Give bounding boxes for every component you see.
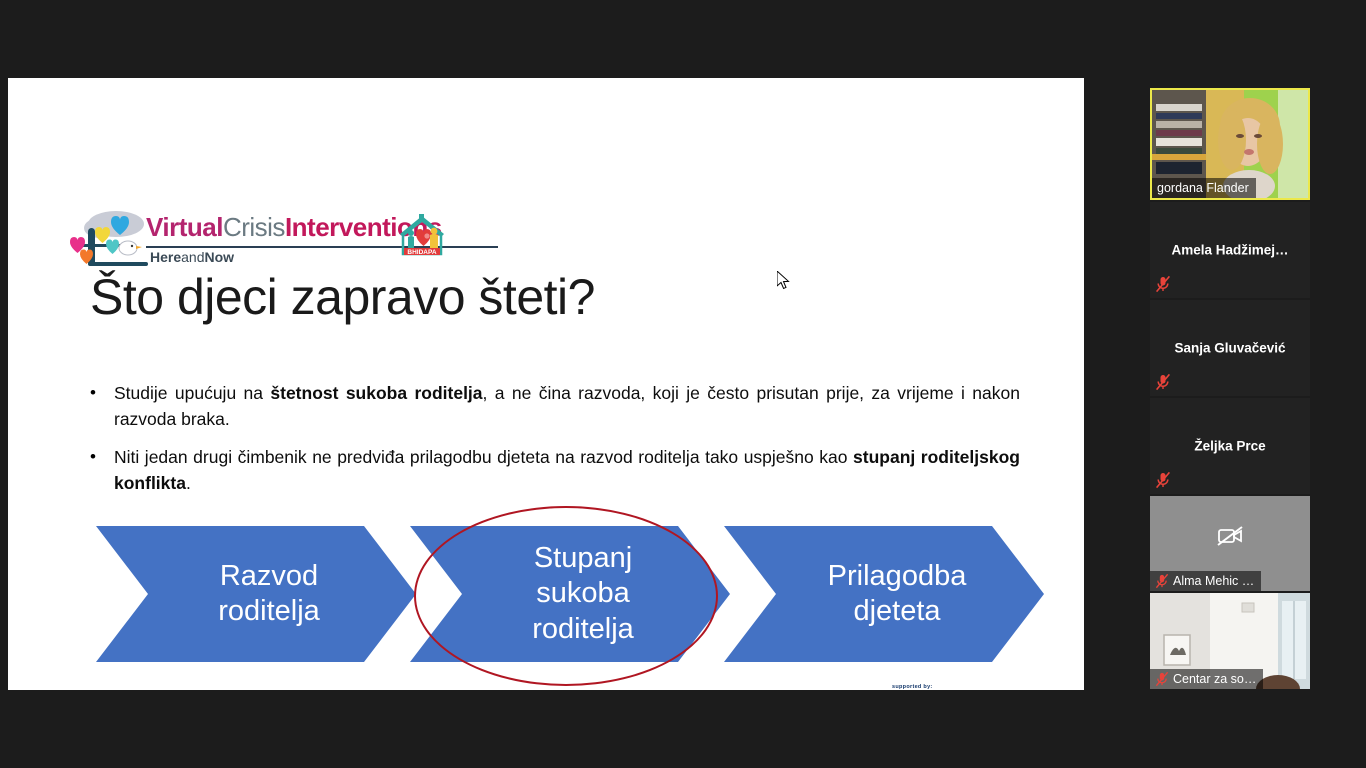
- logo-tagline-and: and: [181, 249, 204, 265]
- logo-tagline: HereandNow: [150, 249, 234, 265]
- participant-tile[interactable]: Centar za so…: [1150, 593, 1310, 689]
- participant-name: Amela Hadžimej…: [1150, 243, 1310, 258]
- bullet-text: Studije upućuju na štetnost sukoba rodit…: [114, 380, 1020, 432]
- mic-off-icon: [1155, 573, 1169, 589]
- participant-tile[interactable]: gordana Flander: [1150, 88, 1310, 200]
- bullet-segment: Niti jedan drugi čimbenik ne predviđa pr…: [114, 447, 853, 467]
- bullet-marker: •: [90, 380, 114, 432]
- participant-tile[interactable]: Amela Hadžimej…: [1150, 202, 1310, 298]
- participant-name-bar: gordana Flander: [1152, 178, 1256, 198]
- participant-tile[interactable]: Željka Prce: [1150, 398, 1310, 494]
- participant-name-bar: Centar za so…: [1150, 669, 1263, 689]
- tree-hearts-logo-icon: [64, 206, 156, 272]
- mic-off-indicator: [1155, 671, 1169, 687]
- participant-tile[interactable]: Alma Mehic …: [1150, 496, 1310, 591]
- logo-tagline-now: Now: [205, 249, 235, 265]
- participant-name: Centar za so…: [1173, 672, 1256, 686]
- participant-strip[interactable]: gordana FlanderAmela Hadžimej… Sanja Glu…: [1150, 88, 1310, 672]
- bullet-segment: Studije upućuju na: [114, 383, 270, 403]
- camera-off-icon: [1217, 525, 1243, 547]
- mic-off-indicator: [1155, 275, 1171, 293]
- flow-step-3: Prilagodbadjeteta: [724, 526, 1044, 662]
- flow-step-1-label: Razvodroditelja: [192, 559, 320, 630]
- logo-word-crisis: Crisis: [223, 212, 285, 242]
- svg-text:BHIDAPA: BHIDAPA: [407, 249, 436, 256]
- participant-tile[interactable]: Sanja Gluvačević: [1150, 300, 1310, 396]
- mic-off-icon: [1155, 275, 1171, 293]
- shared-slide: VirtualCrisisInterventions HereandNow BH…: [8, 78, 1084, 690]
- bullet-item: •Niti jedan drugi čimbenik ne predviđa p…: [90, 444, 1020, 496]
- mic-off-indicator: [1155, 373, 1171, 391]
- bullet-segment: .: [186, 473, 191, 493]
- slide-footer: supported by: unicef for every child USA…: [892, 684, 1084, 690]
- mic-off-icon: [1155, 671, 1169, 687]
- mic-off-indicator: [1155, 573, 1169, 589]
- participant-name: gordana Flander: [1157, 181, 1249, 195]
- flow-step-2-label: Stupanjsukobaroditelja: [506, 541, 634, 647]
- participant-name: Alma Mehic …: [1173, 574, 1254, 588]
- participant-name-bar: Alma Mehic …: [1150, 571, 1261, 591]
- page-title: Što djeci zapravo šteti?: [90, 270, 990, 325]
- bullet-text: Niti jedan drugi čimbenik ne predviđa pr…: [114, 444, 1020, 496]
- mic-off-indicator: [1155, 471, 1171, 489]
- bullet-list: •Studije upućuju na štetnost sukoba rodi…: [90, 380, 1020, 508]
- camera-off-indicator: [1217, 525, 1243, 547]
- participant-name: Sanja Gluvačević: [1150, 341, 1310, 356]
- logo-tagline-here: Here: [150, 249, 181, 265]
- bullet-marker: •: [90, 444, 114, 496]
- mic-off-icon: [1155, 373, 1171, 391]
- logo-word-virtual: Virtual: [146, 212, 223, 242]
- flow-step-1: Razvodroditelja: [96, 526, 416, 662]
- bullet-emphasis: štetnost sukoba roditelja: [270, 383, 482, 403]
- mic-off-icon: [1155, 471, 1171, 489]
- process-flow-diagram: Razvodroditelja Stupanjsukobaroditelja P…: [96, 526, 1038, 662]
- bullet-item: •Studije upućuju na štetnost sukoba rodi…: [90, 380, 1020, 432]
- participant-name: Željka Prce: [1150, 439, 1310, 454]
- flow-step-3-label: Prilagodbadjeteta: [802, 559, 967, 630]
- bhidapa-house-logo-icon: BHIDAPA: [398, 214, 446, 258]
- mouse-cursor: [777, 271, 791, 291]
- supported-by-label: supported by:: [892, 684, 933, 690]
- flow-step-2: Stupanjsukobaroditelja: [410, 526, 730, 662]
- slide-logo: VirtualCrisisInterventions HereandNow BH…: [64, 206, 454, 272]
